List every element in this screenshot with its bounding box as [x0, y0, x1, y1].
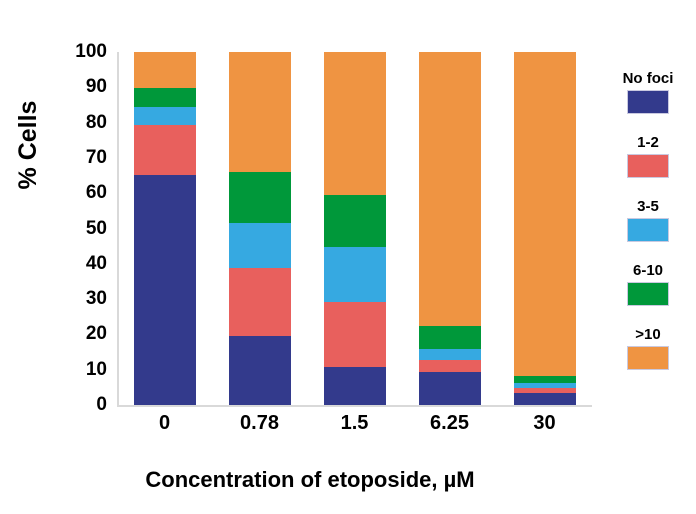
bar-segment[interactable]: [134, 88, 196, 107]
x-axis-tick-labels: 00.781.56.2530: [117, 412, 592, 442]
legend-color-swatch: [627, 218, 669, 242]
bar-segment[interactable]: [324, 195, 386, 247]
y-tick-label: 100: [75, 41, 107, 63]
y-axis-tick-labels: 0102030405060708090100: [58, 52, 113, 405]
y-tick-label: 10: [86, 359, 107, 381]
y-tick-label: 30: [86, 288, 107, 310]
x-tick-label: 30: [505, 412, 585, 435]
bar-group[interactable]: [514, 52, 576, 405]
bar-segment[interactable]: [419, 349, 481, 360]
y-tick-label: 80: [86, 112, 107, 134]
bar-group[interactable]: [229, 52, 291, 405]
bar-segment[interactable]: [134, 107, 196, 125]
bar-segment[interactable]: [134, 52, 196, 88]
legend-entry[interactable]: 1-2: [604, 134, 692, 178]
y-axis-line: [117, 52, 119, 405]
x-axis-title: Concentration of etoposide, µM: [0, 467, 620, 493]
legend-color-swatch: [627, 90, 669, 114]
bar-segment[interactable]: [134, 125, 196, 175]
bar-group[interactable]: [324, 52, 386, 405]
bar-group[interactable]: [134, 52, 196, 405]
y-tick-label: 70: [86, 147, 107, 169]
y-tick-label: 20: [86, 323, 107, 345]
x-tick-label: 6.25: [410, 412, 490, 435]
legend-label: No foci: [604, 70, 692, 87]
bar-segment[interactable]: [229, 52, 291, 172]
legend-entry[interactable]: No foci: [604, 70, 692, 114]
y-tick-label: 60: [86, 182, 107, 204]
bar-segment[interactable]: [229, 223, 291, 268]
legend-color-swatch: [627, 282, 669, 306]
legend-label: 1-2: [604, 134, 692, 151]
bar-segment[interactable]: [324, 52, 386, 195]
legend-entry[interactable]: 6-10: [604, 262, 692, 306]
y-tick-label: 50: [86, 218, 107, 240]
bar-segment[interactable]: [419, 360, 481, 372]
y-tick-label: 0: [96, 394, 107, 416]
bar-group[interactable]: [419, 52, 481, 405]
legend-label: 6-10: [604, 262, 692, 279]
legend-label: 3-5: [604, 198, 692, 215]
bar-segment[interactable]: [134, 175, 196, 405]
bar-segment[interactable]: [419, 372, 481, 405]
bar-segment[interactable]: [514, 376, 576, 383]
y-tick-label: 40: [86, 253, 107, 275]
stacked-bar-chart-figure: % Cells 0102030405060708090100 00.781.56…: [0, 0, 696, 514]
legend-color-swatch: [627, 346, 669, 370]
y-tick-label: 90: [86, 76, 107, 98]
y-axis-title: % Cells: [8, 75, 48, 215]
bar-segment[interactable]: [324, 302, 386, 367]
bar-segment[interactable]: [514, 52, 576, 376]
chart-legend: No foci1-23-56-10>10: [604, 70, 692, 390]
bar-segment[interactable]: [229, 336, 291, 405]
plot-area: [117, 52, 592, 405]
bar-segment[interactable]: [419, 326, 481, 349]
x-tick-label: 0: [125, 412, 205, 435]
legend-color-swatch: [627, 154, 669, 178]
legend-entry[interactable]: 3-5: [604, 198, 692, 242]
legend-label: >10: [604, 326, 692, 343]
bar-segment[interactable]: [324, 247, 386, 302]
bar-segment[interactable]: [229, 172, 291, 223]
bar-segment[interactable]: [514, 393, 576, 405]
bar-segment[interactable]: [229, 268, 291, 336]
bar-segment[interactable]: [419, 52, 481, 326]
x-tick-label: 0.78: [220, 412, 300, 435]
legend-entry[interactable]: >10: [604, 326, 692, 370]
x-axis-line: [117, 405, 592, 407]
x-tick-label: 1.5: [315, 412, 395, 435]
bar-segment[interactable]: [324, 367, 386, 405]
